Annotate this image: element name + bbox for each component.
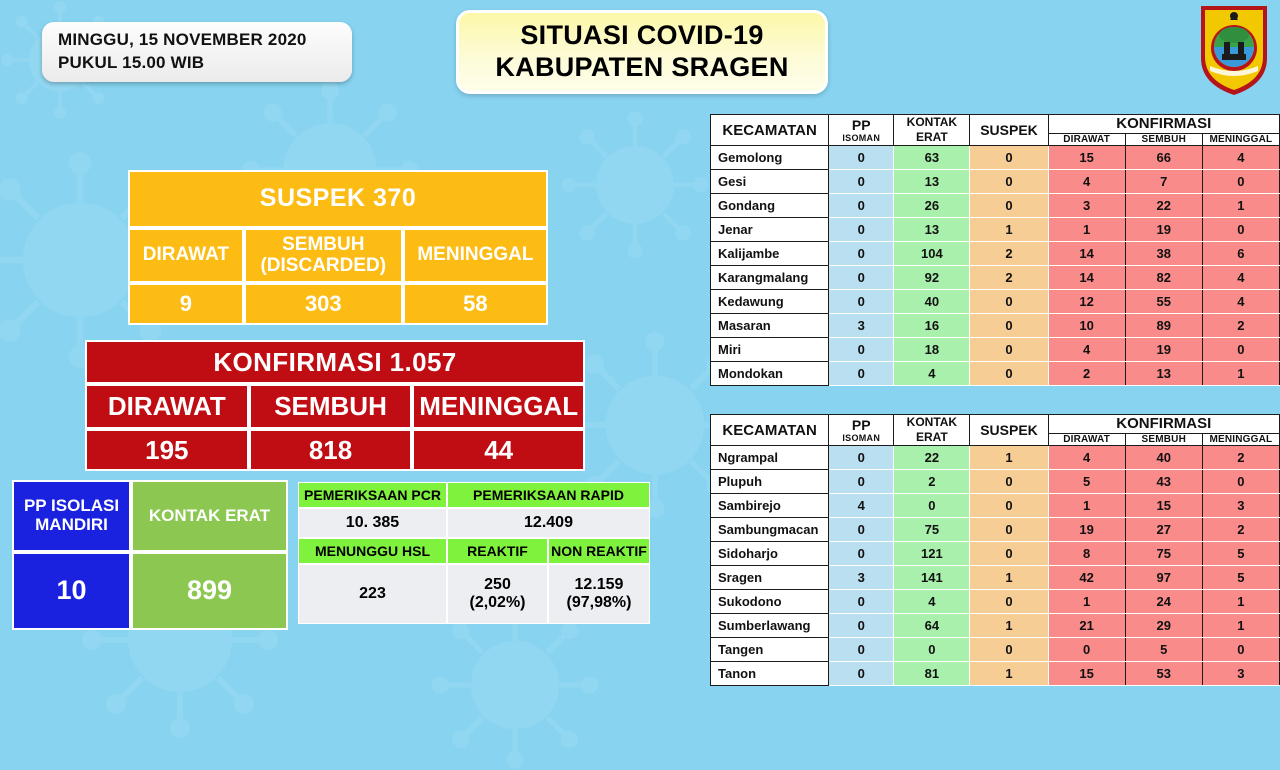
table-row: Sambirejo4001153 xyxy=(711,494,1280,518)
menunggu-hasil-value: 223 xyxy=(298,564,447,624)
cell-value: 3 xyxy=(1202,494,1279,518)
th-sembuh: SEMBUH xyxy=(1125,433,1202,445)
table-row: Tanon081115533 xyxy=(711,662,1280,686)
suspek-value-meninggal: 58 xyxy=(403,283,548,325)
cell-value: 0 xyxy=(1202,338,1279,362)
cell-kecamatan-name: Tangen xyxy=(711,638,829,662)
cell-value: 43 xyxy=(1125,470,1202,494)
cell-kecamatan-name: Sidoharjo xyxy=(711,542,829,566)
cell-value: 1 xyxy=(1202,614,1279,638)
cell-value: 2 xyxy=(1202,518,1279,542)
virus-icon xyxy=(430,600,600,770)
cell-value: 0 xyxy=(1202,218,1279,242)
cell-value: 0 xyxy=(1202,470,1279,494)
cell-value: 14 xyxy=(1048,242,1125,266)
cell-kecamatan-name: Kalijambe xyxy=(711,242,829,266)
cell-value: 3 xyxy=(829,566,894,590)
date-time-badge: MINGGU, 15 NOVEMBER 2020 PUKUL 15.00 WIB xyxy=(42,22,352,82)
sragen-regency-emblem-icon xyxy=(1196,2,1272,98)
cell-value: 0 xyxy=(970,194,1048,218)
cell-value: 63 xyxy=(894,146,970,170)
cell-value: 38 xyxy=(1125,242,1202,266)
reaktif-label: REAKTIF xyxy=(447,538,548,564)
table-row: Kalijambe0104214386 xyxy=(711,242,1280,266)
cell-value: 53 xyxy=(1125,662,1202,686)
cell-value: 0 xyxy=(829,518,894,542)
kecamatan-table-1: KECAMATAN PP ISOMAN KONTAK ERAT SUSPEK K… xyxy=(710,114,1280,386)
table-row: Kedawung040012554 xyxy=(711,290,1280,314)
table-row: Masaran316010892 xyxy=(711,314,1280,338)
table-row: Plupuh0205430 xyxy=(711,470,1280,494)
cell-value: 0 xyxy=(970,518,1048,542)
pemeriksaan-subvalue-row: 223 250 (2,02%) 12.159 (97,98%) xyxy=(298,564,650,624)
pemeriksaan-pcr-label: PEMERIKSAAN PCR xyxy=(298,482,447,508)
konfirmasi-value-row: 195 818 44 xyxy=(85,429,585,471)
cell-value: 0 xyxy=(829,170,894,194)
cell-value: 0 xyxy=(829,290,894,314)
cell-value: 0 xyxy=(829,146,894,170)
pemeriksaan-subheader-row: MENUNGGU HSL REAKTIF NON REAKTIF xyxy=(298,538,650,564)
cell-value: 89 xyxy=(1125,314,1202,338)
cell-value: 19 xyxy=(1125,218,1202,242)
table-row: Tangen000050 xyxy=(711,638,1280,662)
cell-value: 0 xyxy=(829,194,894,218)
konfirmasi-title-row: KONFIRMASI 1.057 xyxy=(85,340,585,384)
cell-value: 13 xyxy=(894,218,970,242)
th-pp-sub: ISOMAN xyxy=(829,433,893,443)
kontak-erat-label: KONTAK ERAT xyxy=(131,480,288,552)
cell-value: 81 xyxy=(894,662,970,686)
table-row: Sidoharjo012108755 xyxy=(711,542,1280,566)
table-row: Gemolong063015664 xyxy=(711,146,1280,170)
table-row: Gondang02603221 xyxy=(711,194,1280,218)
cell-value: 0 xyxy=(1202,638,1279,662)
th-kontak-l2: ERAT xyxy=(916,130,948,144)
cell-kecamatan-name: Karangmalang xyxy=(711,266,829,290)
cell-value: 26 xyxy=(894,194,970,218)
cell-kecamatan-name: Miri xyxy=(711,338,829,362)
cell-value: 121 xyxy=(894,542,970,566)
th-pp-main: PP xyxy=(852,117,871,133)
table-2-body: Ngrampal02214402Plupuh0205430Sambirejo40… xyxy=(711,446,1280,686)
cell-value: 0 xyxy=(829,338,894,362)
cell-kecamatan-name: Mondokan xyxy=(711,362,829,386)
cell-value: 0 xyxy=(970,638,1048,662)
th-suspek: SUSPEK xyxy=(970,115,1048,146)
cell-value: 2 xyxy=(894,470,970,494)
suspek-header-meninggal: MENINGGAL xyxy=(403,228,548,283)
cell-value: 4 xyxy=(829,494,894,518)
cell-value: 1 xyxy=(970,566,1048,590)
cell-value: 24 xyxy=(1125,590,1202,614)
cell-value: 0 xyxy=(829,242,894,266)
cell-value: 2 xyxy=(1048,362,1125,386)
cell-value: 4 xyxy=(1048,446,1125,470)
cell-value: 2 xyxy=(970,266,1048,290)
table-2-header-row-1: KECAMATAN PP ISOMAN KONTAK ERAT SUSPEK K… xyxy=(711,415,1280,434)
cell-value: 4 xyxy=(1202,146,1279,170)
konfirmasi-title: KONFIRMASI 1.057 xyxy=(85,340,585,384)
cell-value: 13 xyxy=(1125,362,1202,386)
suspek-value-dirawat: 9 xyxy=(128,283,244,325)
cell-kecamatan-name: Sambungmacan xyxy=(711,518,829,542)
cell-value: 104 xyxy=(894,242,970,266)
th-pp-main: PP xyxy=(852,417,871,433)
cell-value: 16 xyxy=(894,314,970,338)
cell-kecamatan-name: Sumberlawang xyxy=(711,614,829,638)
th-kecamatan: KECAMATAN xyxy=(711,115,829,146)
pp-isolasi-label: PP ISOLASI MANDIRI xyxy=(12,480,131,552)
suspek-header-row: DIRAWAT SEMBUH (DISCARDED) MENINGGAL xyxy=(128,228,548,283)
cell-value: 4 xyxy=(1048,170,1125,194)
th-konfirmasi: KONFIRMASI xyxy=(1048,115,1279,134)
table-row: Ngrampal02214402 xyxy=(711,446,1280,470)
table-row: Sukodono0401241 xyxy=(711,590,1280,614)
konfirmasi-header-meninggal: MENINGGAL xyxy=(412,384,585,429)
cell-kecamatan-name: Sragen xyxy=(711,566,829,590)
cell-value: 92 xyxy=(894,266,970,290)
cell-value: 0 xyxy=(970,338,1048,362)
cell-value: 7 xyxy=(1125,170,1202,194)
cell-value: 5 xyxy=(1125,638,1202,662)
cell-kecamatan-name: Gondang xyxy=(711,194,829,218)
cell-value: 8 xyxy=(1048,542,1125,566)
suspek-value-sembuh: 303 xyxy=(244,283,403,325)
cell-value: 2 xyxy=(1202,314,1279,338)
cell-value: 19 xyxy=(1048,518,1125,542)
th-kontak-l1: KONTAK xyxy=(907,115,957,129)
reaktif-percent: (2,02%) xyxy=(469,594,525,612)
cell-value: 2 xyxy=(970,242,1048,266)
cell-value: 97 xyxy=(1125,566,1202,590)
cell-kecamatan-name: Gemolong xyxy=(711,146,829,170)
cell-kecamatan-name: Jenar xyxy=(711,218,829,242)
cell-value: 40 xyxy=(894,290,970,314)
cell-value: 22 xyxy=(1125,194,1202,218)
cell-value: 1 xyxy=(1202,590,1279,614)
suspek-value-row: 9 303 58 xyxy=(128,283,548,325)
suspek-title: SUSPEK 370 xyxy=(128,170,548,228)
cell-value: 3 xyxy=(1048,194,1125,218)
konfirmasi-summary-panel: KONFIRMASI 1.057 DIRAWAT SEMBUH MENINGGA… xyxy=(85,340,585,471)
cell-value: 0 xyxy=(829,218,894,242)
suspek-header-dirawat: DIRAWAT xyxy=(128,228,244,283)
cell-kecamatan-name: Tanon xyxy=(711,662,829,686)
th-kontak-erat: KONTAK ERAT xyxy=(894,415,970,446)
cell-value: 4 xyxy=(1202,266,1279,290)
non-reaktif-label: NON REAKTIF xyxy=(548,538,650,564)
cell-value: 0 xyxy=(970,494,1048,518)
cell-value: 0 xyxy=(970,590,1048,614)
non-reaktif-count: 12.159 xyxy=(567,576,632,594)
pemeriksaan-panel: PEMERIKSAAN PCR PEMERIKSAAN RAPID 10. 38… xyxy=(298,482,650,624)
cell-value: 55 xyxy=(1125,290,1202,314)
cell-value: 40 xyxy=(1125,446,1202,470)
title-line-1: SITUASI COVID-19 xyxy=(520,20,763,52)
pemeriksaan-pcr-value: 10. 385 xyxy=(298,508,447,538)
pp-kontak-value-row: 10 899 xyxy=(12,552,288,630)
cell-value: 0 xyxy=(829,446,894,470)
konfirmasi-value-dirawat: 195 xyxy=(85,429,249,471)
date-line: MINGGU, 15 NOVEMBER 2020 xyxy=(58,29,352,52)
konfirmasi-header-sembuh: SEMBUH xyxy=(249,384,413,429)
cell-value: 15 xyxy=(1125,494,1202,518)
cell-value: 5 xyxy=(1202,566,1279,590)
cell-value: 0 xyxy=(970,470,1048,494)
table-row: Jenar01311190 xyxy=(711,218,1280,242)
cell-value: 75 xyxy=(894,518,970,542)
pp-kontak-header-row: PP ISOLASI MANDIRI KONTAK ERAT xyxy=(12,480,288,552)
cell-value: 4 xyxy=(1202,290,1279,314)
pp-kontak-panel: PP ISOLASI MANDIRI KONTAK ERAT 10 899 xyxy=(12,480,288,630)
th-dirawat: DIRAWAT xyxy=(1048,433,1125,445)
cell-kecamatan-name: Gesi xyxy=(711,170,829,194)
non-reaktif-value: 12.159 (97,98%) xyxy=(548,564,650,624)
cell-value: 18 xyxy=(894,338,970,362)
th-suspek: SUSPEK xyxy=(970,415,1048,446)
cell-value: 15 xyxy=(1048,662,1125,686)
cell-kecamatan-name: Ngrampal xyxy=(711,446,829,470)
menunggu-hasil-label: MENUNGGU HSL xyxy=(298,538,447,564)
non-reaktif-percent: (97,98%) xyxy=(567,594,632,612)
table-1-head: KECAMATAN PP ISOMAN KONTAK ERAT SUSPEK K… xyxy=(711,115,1280,146)
cell-value: 0 xyxy=(829,470,894,494)
cell-value: 1 xyxy=(1048,590,1125,614)
cell-kecamatan-name: Sukodono xyxy=(711,590,829,614)
cell-value: 0 xyxy=(1202,170,1279,194)
page-title: SITUASI COVID-19 KABUPATEN SRAGEN xyxy=(456,10,828,94)
cell-value: 4 xyxy=(894,362,970,386)
th-pp-isoman: PP ISOMAN xyxy=(829,415,894,446)
cell-value: 0 xyxy=(970,542,1048,566)
cell-kecamatan-name: Plupuh xyxy=(711,470,829,494)
table-row: Sragen3141142975 xyxy=(711,566,1280,590)
cell-value: 1 xyxy=(1048,218,1125,242)
th-kontak-erat: KONTAK ERAT xyxy=(894,115,970,146)
cell-value: 0 xyxy=(829,266,894,290)
pp-isolasi-label-l1: PP ISOLASI xyxy=(24,497,119,516)
cell-value: 15 xyxy=(1048,146,1125,170)
suspek-header-sembuh-l2: (DISCARDED) xyxy=(260,256,386,277)
table-row: Miri01804190 xyxy=(711,338,1280,362)
th-pp-sub: ISOMAN xyxy=(829,133,893,143)
cell-value: 1 xyxy=(970,614,1048,638)
th-pp-isoman: PP ISOMAN xyxy=(829,115,894,146)
th-kontak-l2: ERAT xyxy=(916,430,948,444)
cell-value: 0 xyxy=(894,638,970,662)
cell-value: 1 xyxy=(970,662,1048,686)
cell-value: 3 xyxy=(1202,662,1279,686)
cell-value: 22 xyxy=(894,446,970,470)
cell-value: 1 xyxy=(970,218,1048,242)
table-row: Sambungmacan075019272 xyxy=(711,518,1280,542)
reaktif-value: 250 (2,02%) xyxy=(447,564,548,624)
cell-value: 0 xyxy=(829,638,894,662)
cell-kecamatan-name: Masaran xyxy=(711,314,829,338)
cell-value: 66 xyxy=(1125,146,1202,170)
table-row: Karangmalang092214824 xyxy=(711,266,1280,290)
table-1-header-row-1: KECAMATAN PP ISOMAN KONTAK ERAT SUSPEK K… xyxy=(711,115,1280,134)
pemeriksaan-rapid-label: PEMERIKSAAN RAPID xyxy=(447,482,650,508)
cell-value: 5 xyxy=(1202,542,1279,566)
cell-kecamatan-name: Kedawung xyxy=(711,290,829,314)
th-dirawat: DIRAWAT xyxy=(1048,133,1125,145)
table-2-head: KECAMATAN PP ISOMAN KONTAK ERAT SUSPEK K… xyxy=(711,415,1280,446)
kecamatan-table-2: KECAMATAN PP ISOMAN KONTAK ERAT SUSPEK K… xyxy=(710,414,1280,686)
th-meninggal: MENINGGAL xyxy=(1202,133,1279,145)
suspek-summary-panel: SUSPEK 370 DIRAWAT SEMBUH (DISCARDED) ME… xyxy=(128,170,548,325)
cell-value: 1 xyxy=(1202,362,1279,386)
cell-kecamatan-name: Sambirejo xyxy=(711,494,829,518)
suspek-title-row: SUSPEK 370 xyxy=(128,170,548,228)
kontak-erat-value: 899 xyxy=(131,552,288,630)
cell-value: 0 xyxy=(970,362,1048,386)
cell-value: 0 xyxy=(970,314,1048,338)
cell-value: 21 xyxy=(1048,614,1125,638)
table-1-body: Gemolong063015664Gesi0130470Gondang02603… xyxy=(711,146,1280,386)
cell-value: 27 xyxy=(1125,518,1202,542)
konfirmasi-header-dirawat: DIRAWAT xyxy=(85,384,249,429)
pemeriksaan-header-row: PEMERIKSAAN PCR PEMERIKSAAN RAPID xyxy=(298,482,650,508)
cell-value: 0 xyxy=(894,494,970,518)
cell-value: 5 xyxy=(1048,470,1125,494)
cell-value: 0 xyxy=(829,590,894,614)
cell-value: 4 xyxy=(1048,338,1125,362)
pemeriksaan-rapid-value: 12.409 xyxy=(447,508,650,538)
cell-value: 1 xyxy=(1202,194,1279,218)
pp-isolasi-label-l2: MANDIRI xyxy=(24,516,119,535)
cell-value: 13 xyxy=(894,170,970,194)
pemeriksaan-total-row: 10. 385 12.409 xyxy=(298,508,650,538)
cell-value: 19 xyxy=(1125,338,1202,362)
cell-value: 0 xyxy=(970,146,1048,170)
cell-value: 0 xyxy=(829,614,894,638)
cell-value: 10 xyxy=(1048,314,1125,338)
th-meninggal: MENINGGAL xyxy=(1202,433,1279,445)
cell-value: 0 xyxy=(829,362,894,386)
cell-value: 141 xyxy=(894,566,970,590)
cell-value: 0 xyxy=(829,542,894,566)
konfirmasi-value-meninggal: 44 xyxy=(412,429,585,471)
cell-value: 0 xyxy=(1048,638,1125,662)
cell-value: 0 xyxy=(829,662,894,686)
th-kecamatan: KECAMATAN xyxy=(711,415,829,446)
cell-value: 3 xyxy=(829,314,894,338)
title-line-2: KABUPATEN SRAGEN xyxy=(495,52,788,84)
cell-value: 0 xyxy=(970,290,1048,314)
table-row: Gesi0130470 xyxy=(711,170,1280,194)
virus-icon xyxy=(560,110,710,260)
konfirmasi-value-sembuh: 818 xyxy=(249,429,413,471)
cell-value: 42 xyxy=(1048,566,1125,590)
cell-value: 29 xyxy=(1125,614,1202,638)
cell-value: 12 xyxy=(1048,290,1125,314)
cell-value: 1 xyxy=(1048,494,1125,518)
suspek-header-sembuh: SEMBUH (DISCARDED) xyxy=(244,228,403,283)
cell-value: 14 xyxy=(1048,266,1125,290)
pp-isolasi-value: 10 xyxy=(12,552,131,630)
cell-value: 6 xyxy=(1202,242,1279,266)
th-konfirmasi: KONFIRMASI xyxy=(1048,415,1279,434)
th-kontak-l1: KONTAK xyxy=(907,415,957,429)
time-line: PUKUL 15.00 WIB xyxy=(58,52,352,75)
suspek-header-sembuh-l1: SEMBUH xyxy=(260,235,386,256)
cell-value: 4 xyxy=(894,590,970,614)
cell-value: 64 xyxy=(894,614,970,638)
th-sembuh: SEMBUH xyxy=(1125,133,1202,145)
table-row: Mondokan0402131 xyxy=(711,362,1280,386)
cell-value: 1 xyxy=(970,446,1048,470)
table-row: Sumberlawang064121291 xyxy=(711,614,1280,638)
cell-value: 75 xyxy=(1125,542,1202,566)
cell-value: 2 xyxy=(1202,446,1279,470)
konfirmasi-header-row: DIRAWAT SEMBUH MENINGGAL xyxy=(85,384,585,429)
cell-value: 82 xyxy=(1125,266,1202,290)
reaktif-count: 250 xyxy=(469,576,525,594)
cell-value: 0 xyxy=(970,170,1048,194)
